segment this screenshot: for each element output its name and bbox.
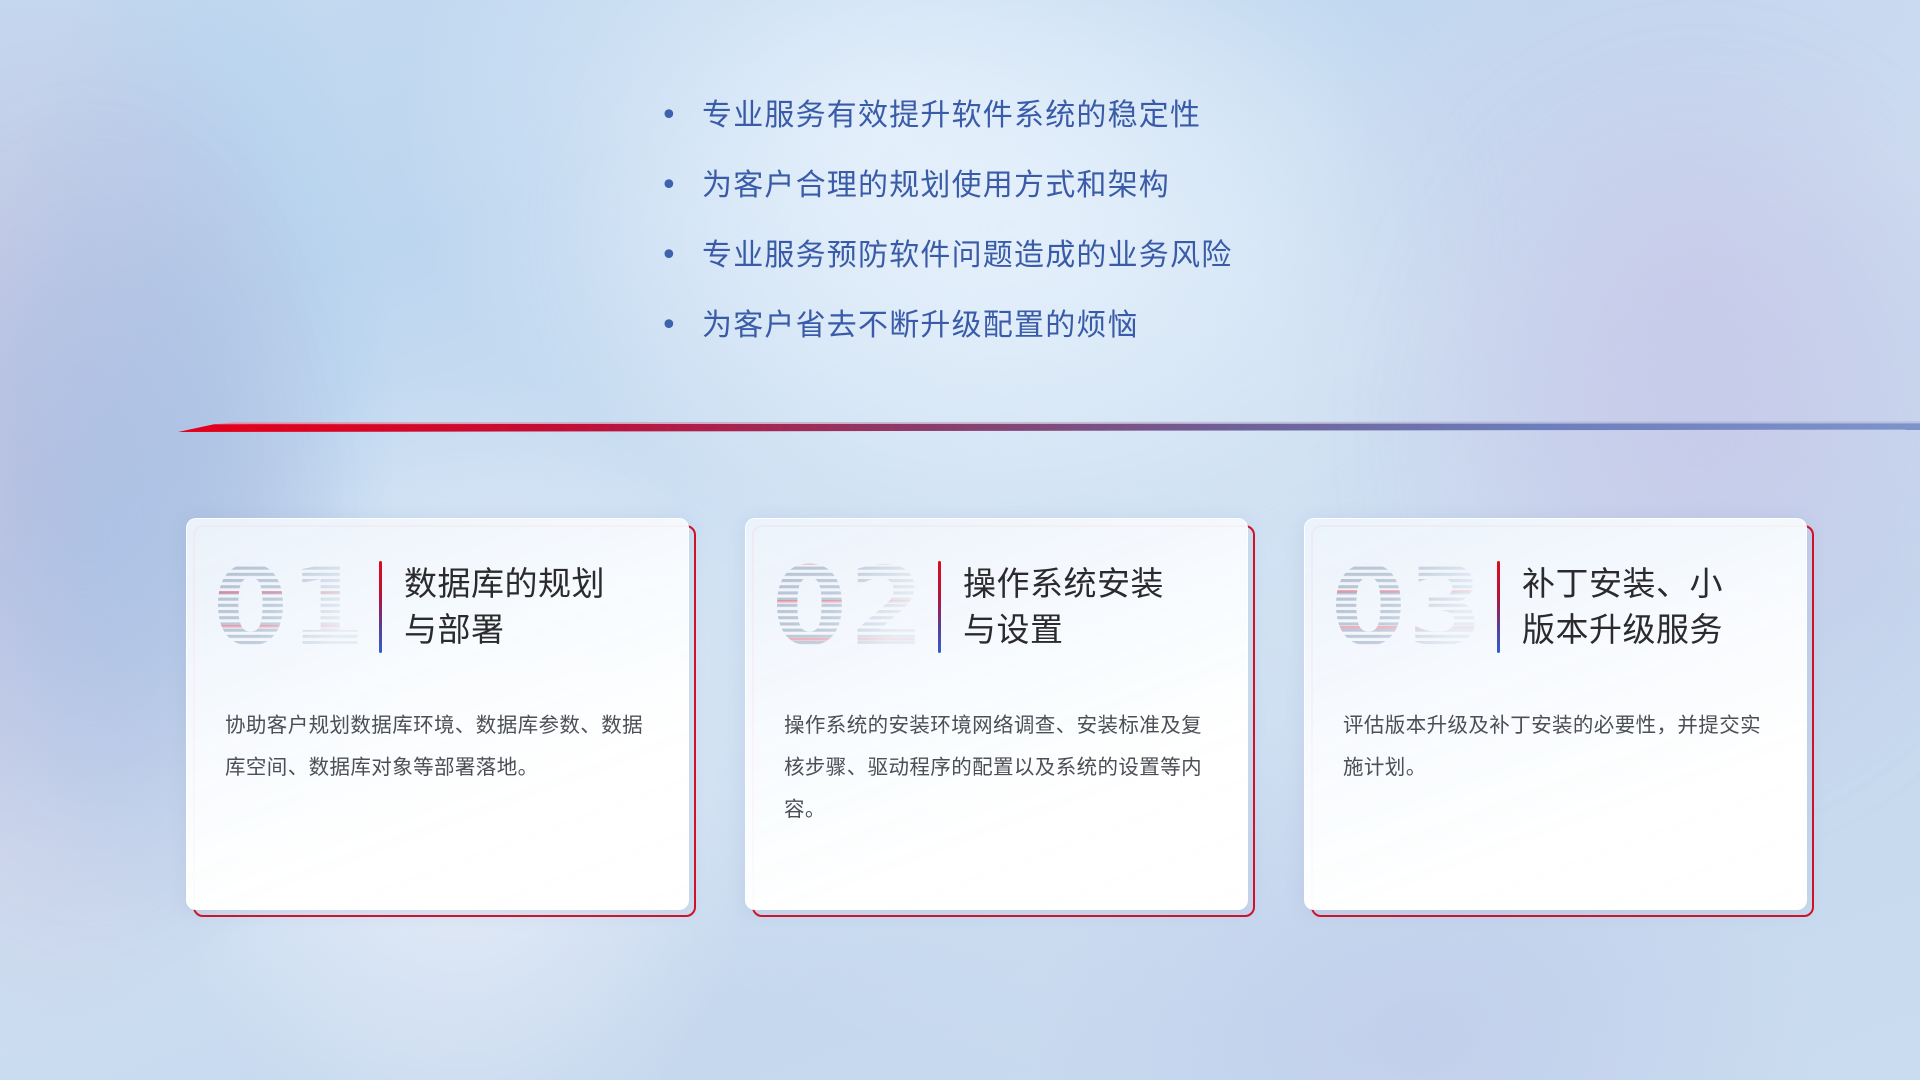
card-title-line: 与设置	[963, 607, 1164, 653]
bullet-text: 专业服务预防软件问题造成的业务风险	[702, 236, 1232, 276]
service-card-row: 01 数据库的规划	[186, 518, 1806, 918]
card-surface: 02 操作系统安装	[745, 518, 1248, 910]
card-title: 补丁安装、小 版本升级服务	[1522, 561, 1733, 653]
card-title-separator	[379, 561, 382, 653]
service-card[interactable]: 03 补丁安装、小	[1304, 518, 1807, 910]
card-title-line: 版本升级服务	[1522, 607, 1723, 653]
card-number-watermark: 01	[205, 548, 375, 666]
card-surface: 01 数据库的规划	[186, 518, 689, 910]
bullet-marker-icon: •	[660, 306, 702, 346]
card-header: 03 补丁安装、小	[1305, 519, 1806, 695]
card-surface: 03 补丁安装、小	[1304, 518, 1807, 910]
card-title-separator	[938, 561, 941, 653]
card-description: 协助客户规划数据库环境、数据库参数、数据库空间、数据库对象等部署落地。	[187, 695, 688, 789]
card-title: 数据库的规划 与部署	[404, 561, 615, 653]
card-title-line: 数据库的规划	[404, 561, 605, 607]
card-title-separator	[1497, 561, 1500, 653]
bullet-item: • 专业服务预防软件问题造成的业务风险	[660, 236, 1420, 276]
striped-number-icon: 01	[205, 548, 375, 666]
bullet-text: 专业服务有效提升软件系统的稳定性	[702, 96, 1201, 136]
card-description: 评估版本升级及补丁安装的必要性，并提交实施计划。	[1305, 695, 1806, 789]
card-title-line: 与部署	[404, 607, 605, 653]
service-card[interactable]: 02 操作系统安装	[745, 518, 1248, 910]
card-title-line: 补丁安装、小	[1522, 561, 1723, 607]
service-card[interactable]: 01 数据库的规划	[186, 518, 689, 910]
bullet-marker-icon: •	[660, 166, 702, 206]
card-title: 操作系统安装 与设置	[963, 561, 1174, 653]
card-number-watermark: 03	[1323, 548, 1493, 666]
striped-number-icon: 03	[1323, 548, 1493, 666]
bullet-marker-icon: •	[660, 96, 702, 136]
section-divider	[178, 420, 1920, 436]
bullet-item: • 专业服务有效提升软件系统的稳定性	[660, 96, 1420, 136]
bullet-text: 为客户省去不断升级配置的烦恼	[702, 306, 1139, 346]
bullet-text: 为客户合理的规划使用方式和架构	[702, 166, 1170, 206]
striped-number-icon: 02	[764, 548, 934, 666]
bullet-item: • 为客户合理的规划使用方式和架构	[660, 166, 1420, 206]
card-title-line: 操作系统安装	[963, 561, 1164, 607]
bullet-item: • 为客户省去不断升级配置的烦恼	[660, 306, 1420, 346]
card-header: 01 数据库的规划	[187, 519, 688, 695]
card-number-watermark: 02	[764, 548, 934, 666]
divider-shape-icon	[178, 420, 1920, 436]
card-header: 02 操作系统安装	[746, 519, 1247, 695]
bullet-marker-icon: •	[660, 236, 702, 276]
bullet-list: • 专业服务有效提升软件系统的稳定性 • 为客户合理的规划使用方式和架构 • 专…	[660, 96, 1420, 376]
slide-canvas: • 专业服务有效提升软件系统的稳定性 • 为客户合理的规划使用方式和架构 • 专…	[0, 0, 1920, 1080]
card-description: 操作系统的安装环境网络调查、安装标准及复核步骤、驱动程序的配置以及系统的设置等内…	[746, 695, 1247, 831]
